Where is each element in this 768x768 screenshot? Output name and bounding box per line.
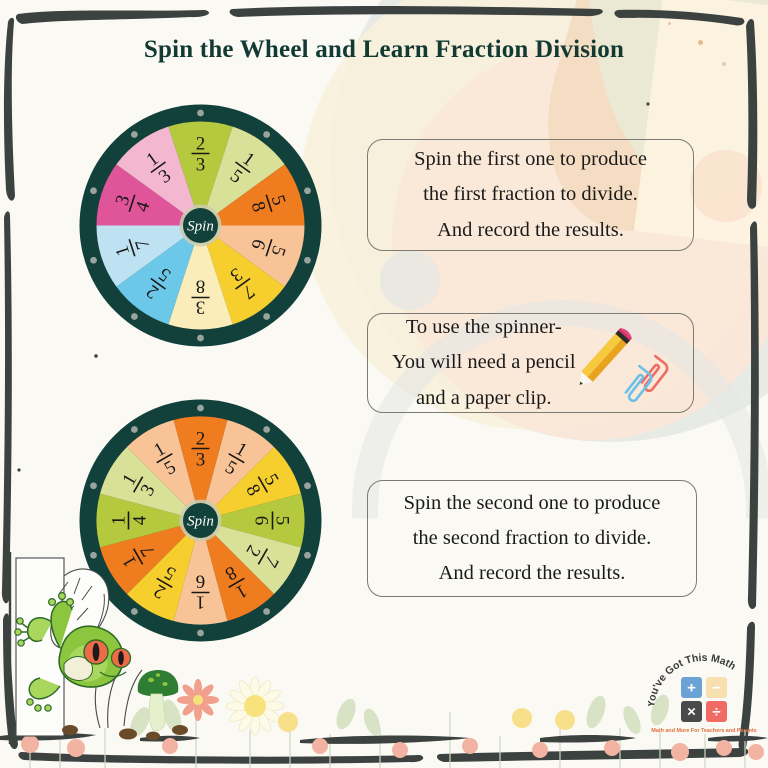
wheel-stud [131, 131, 138, 138]
materials-instruction-card: To use the spinner- You will need a penc… [367, 313, 694, 413]
wheel-stud [131, 313, 138, 320]
mushroom-icon [138, 670, 179, 731]
svg-text:+: + [687, 680, 696, 697]
spin-label: Spin [187, 514, 214, 530]
wheel-stud [197, 405, 204, 412]
instruction-line: And record the results. [404, 556, 661, 591]
svg-text:8: 8 [196, 276, 206, 297]
svg-text:3: 3 [196, 450, 206, 471]
wheel-stud [131, 426, 138, 433]
svg-text:×: × [687, 704, 696, 721]
wheel-stud [304, 552, 311, 559]
svg-text:6: 6 [251, 516, 272, 526]
wheel-stud [304, 482, 311, 489]
wheel-stud [90, 187, 97, 194]
worksheet-page: Spin the Wheel and Learn Fraction Divisi… [0, 0, 768, 768]
instruction-line: the second fraction to divide. [404, 521, 661, 556]
wheel-stud [263, 313, 270, 320]
svg-text:÷: ÷ [712, 704, 720, 721]
wheel-stud [263, 426, 270, 433]
bg-dot-peach [690, 150, 762, 222]
paper-clip-blue-icon [620, 366, 654, 402]
first-instruction-card: Spin the first one to produce the first … [367, 139, 694, 251]
svg-text:5: 5 [272, 516, 293, 526]
instruction-line: the first fraction to divide. [414, 177, 647, 212]
seed-decor [62, 725, 188, 741]
instruction-line: Spin the first one to produce [414, 142, 647, 177]
wheel-stud [90, 257, 97, 264]
materials-instruction-text: To use the spinner- You will need a penc… [382, 310, 576, 416]
svg-text:2: 2 [196, 134, 206, 155]
brand-tagline: Math and More For Teachers and Parents [651, 728, 756, 734]
second-instruction-text: Spin the second one to produce the secon… [404, 486, 661, 592]
wheel-stud [304, 257, 311, 264]
first-instruction-text: Spin the first one to produce the first … [414, 142, 647, 248]
second-instruction-card: Spin the second one to produce the secon… [367, 480, 697, 597]
wheel-stud [197, 335, 204, 342]
bg-speck-3 [668, 22, 671, 25]
wheel-stud [90, 482, 97, 489]
svg-text:4: 4 [130, 515, 151, 525]
bg-dot-grey [380, 250, 440, 310]
wheel-stud [263, 608, 270, 615]
svg-text:1: 1 [109, 516, 130, 526]
wheel-stud [304, 187, 311, 194]
pencil-icon [574, 326, 634, 390]
wheel-stud [197, 110, 204, 117]
svg-text:3: 3 [196, 155, 206, 176]
wheel-stud [263, 131, 270, 138]
spin-label: Spin [187, 219, 214, 235]
svg-text:3: 3 [196, 297, 206, 318]
instruction-line: Spin the second one to produce [404, 486, 661, 521]
page-title: Spin the Wheel and Learn Fraction Divisi… [0, 36, 768, 64]
instruction-line: To use the spinner- [392, 310, 576, 345]
operator-tiles: + − × ÷ [681, 677, 727, 722]
first-spinner-wheel[interactable]: 23155856733825173413Spin [78, 103, 323, 348]
instruction-line: And record the results. [414, 213, 647, 248]
frog-illustration-group [8, 552, 223, 757]
instruction-line: and a paper clip. [392, 381, 576, 416]
svg-text:2: 2 [196, 429, 206, 450]
daisy-icon [226, 677, 284, 735]
supplies-illustration [557, 326, 677, 406]
brand-logo[interactable]: You've Got This Math + − × ÷ Math and Mo… [648, 652, 760, 738]
instruction-line: You will need a pencil [392, 345, 576, 380]
svg-text:−: − [712, 680, 721, 697]
